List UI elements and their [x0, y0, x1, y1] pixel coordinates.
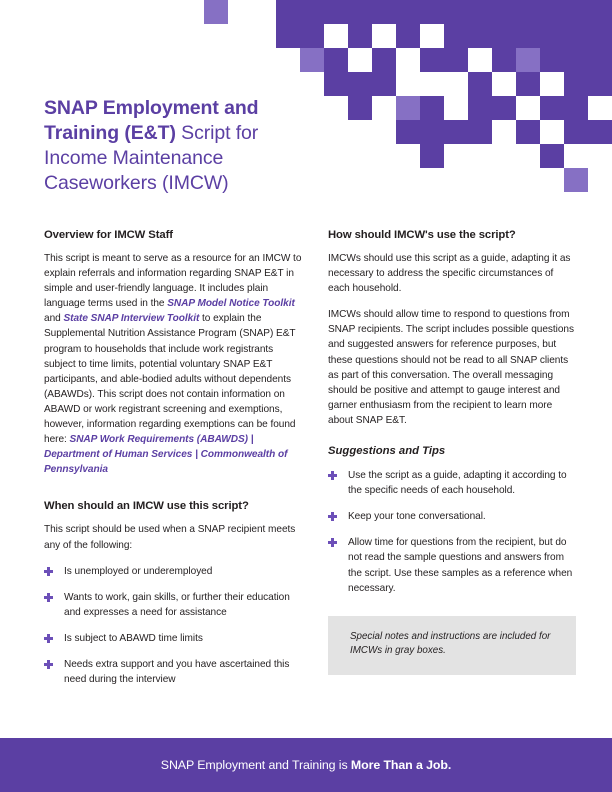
mosaic-cell-dark [420, 120, 444, 144]
mosaic-cell-dark [396, 24, 420, 48]
mosaic-cell-dark [540, 0, 564, 24]
special-note-text: Special notes and instructions are inclu… [350, 630, 558, 659]
overview-text-c: to explain the Supplemental Nutrition As… [44, 313, 295, 445]
list-item: Wants to work, gain skills, or further t… [44, 590, 302, 620]
mosaic-cell-dark [396, 0, 420, 24]
mosaic-cell-dark [564, 120, 588, 144]
list-item: Keep your tone conversational. [328, 509, 576, 524]
mosaic-cell-dark [564, 0, 588, 24]
mosaic-cell-dark [564, 72, 588, 96]
mosaic-cell-dark [420, 48, 444, 72]
mosaic-cell-light [300, 48, 324, 72]
list-item: Allow time for questions from the recipi… [328, 535, 576, 595]
footer-tagline-bold: More Than a Job. [351, 758, 451, 772]
mosaic-cell-dark [468, 24, 492, 48]
list-item-label: Wants to work, gain skills, or further t… [64, 592, 290, 618]
how-to-use-paragraph-2: IMCWs should allow time to respond to qu… [328, 307, 576, 428]
special-note-box: Special notes and instructions are inclu… [328, 616, 576, 675]
page-title: SNAP Employment and Training (E&T) Scrip… [44, 96, 314, 196]
plus-icon [328, 471, 337, 480]
when-to-use-list: Is unemployed or underemployed Wants to … [44, 564, 302, 688]
mosaic-cell-dark [468, 0, 492, 24]
mosaic-cell-dark [420, 96, 444, 120]
mosaic-cell-dark [540, 144, 564, 168]
list-item: Is subject to ABAWD time limits [44, 631, 302, 646]
mosaic-cell-dark [420, 144, 444, 168]
plus-icon [328, 512, 337, 521]
mosaic-cell-light [516, 48, 540, 72]
mosaic-cell-dark [444, 24, 468, 48]
header-banner: SNAP Employment and Training (E&T) Scrip… [0, 0, 612, 200]
mosaic-cell-dark [516, 120, 540, 144]
mosaic-cell-dark [348, 24, 372, 48]
mosaic-cell-light [204, 0, 228, 24]
list-item: Is unemployed or underemployed [44, 564, 302, 579]
suggestions-heading: Suggestions and Tips [328, 444, 576, 458]
link-state-snap-interview-toolkit[interactable]: State SNAP Interview Toolkit [63, 313, 199, 324]
mosaic-cell-dark [492, 48, 516, 72]
mosaic-cell-dark [588, 72, 612, 96]
mosaic-cell-dark [372, 48, 396, 72]
mosaic-cell-dark [348, 0, 372, 24]
when-to-use-heading: When should an IMCW use this script? [44, 499, 302, 513]
mosaic-cell-dark [564, 48, 588, 72]
mosaic-cell-dark [492, 24, 516, 48]
mosaic-cell-light [564, 168, 588, 192]
right-column: How should IMCW's use the script? IMCWs … [328, 228, 576, 675]
mosaic-cell-dark [516, 0, 540, 24]
mosaic-cell-dark [348, 72, 372, 96]
link-snap-model-notice-toolkit[interactable]: SNAP Model Notice Toolkit [167, 298, 295, 309]
mosaic-cell-dark [540, 24, 564, 48]
section-overview: Overview for IMCW Staff This script is m… [44, 228, 302, 477]
mosaic-cell-dark [468, 72, 492, 96]
how-to-use-paragraph-1: IMCWs should use this script as a guide,… [328, 251, 576, 296]
plus-icon [44, 660, 53, 669]
mosaic-cell-dark [324, 0, 348, 24]
mosaic-cell-dark [564, 96, 588, 120]
list-item-label: Use the script as a guide, adapting it a… [348, 470, 567, 496]
mosaic-cell-dark [468, 96, 492, 120]
mosaic-cell-dark [492, 96, 516, 120]
mosaic-cell-light [396, 96, 420, 120]
list-item-label: Is subject to ABAWD time limits [64, 633, 203, 644]
mosaic-cell-dark [324, 72, 348, 96]
mosaic-cell-dark [588, 120, 612, 144]
mosaic-cell-dark [300, 24, 324, 48]
list-item-label: Allow time for questions from the recipi… [348, 537, 572, 593]
footer-tagline-regular: SNAP Employment and Training is [161, 758, 351, 772]
mosaic-cell-dark [516, 24, 540, 48]
overview-paragraph: This script is meant to serve as a resou… [44, 251, 302, 477]
mosaic-cell-dark [324, 48, 348, 72]
mosaic-cell-dark [348, 96, 372, 120]
mosaic-cell-dark [300, 0, 324, 24]
link-snap-work-requirements[interactable]: SNAP Work Requirements (ABAWDS) | Depart… [44, 434, 287, 475]
plus-icon [44, 567, 53, 576]
footer-tagline: SNAP Employment and Training is More Tha… [161, 758, 451, 772]
mosaic-cell-dark [588, 0, 612, 24]
mosaic-cell-dark [540, 48, 564, 72]
section-how-to-use: How should IMCW's use the script? IMCWs … [328, 228, 576, 428]
mosaic-cell-dark [372, 0, 396, 24]
mosaic-cell-dark [276, 24, 300, 48]
mosaic-cell-dark [276, 0, 300, 24]
plus-icon [44, 634, 53, 643]
mosaic-cell-dark [396, 120, 420, 144]
mosaic-cell-dark [444, 0, 468, 24]
section-when-to-use: When should an IMCW use this script? Thi… [44, 499, 302, 687]
mosaic-cell-dark [420, 0, 444, 24]
section-suggestions-and-tips: Suggestions and Tips Use the script as a… [328, 444, 576, 596]
list-item: Needs extra support and you have ascerta… [44, 657, 302, 687]
mosaic-cell-dark [588, 24, 612, 48]
when-to-use-intro: This script should be used when a SNAP r… [44, 522, 302, 552]
list-item-label: Needs extra support and you have ascerta… [64, 659, 289, 685]
suggestions-list: Use the script as a guide, adapting it a… [328, 468, 576, 596]
plus-icon [328, 538, 337, 547]
mosaic-cell-dark [492, 0, 516, 24]
mosaic-cell-dark [372, 72, 396, 96]
footer-banner: SNAP Employment and Training is More Tha… [0, 738, 612, 792]
plus-icon [44, 593, 53, 602]
list-item-label: Is unemployed or underemployed [64, 566, 212, 577]
mosaic-cell-dark [540, 96, 564, 120]
list-item-label: Keep your tone conversational. [348, 511, 486, 522]
mosaic-cell-dark [564, 24, 588, 48]
mosaic-cell-dark [444, 120, 468, 144]
left-column: Overview for IMCW Staff This script is m… [44, 228, 302, 687]
how-to-use-heading: How should IMCW's use the script? [328, 228, 576, 242]
list-item: Use the script as a guide, adapting it a… [328, 468, 576, 498]
overview-heading: Overview for IMCW Staff [44, 228, 302, 242]
mosaic-cell-dark [588, 48, 612, 72]
overview-text-b: and [44, 313, 63, 324]
mosaic-cell-dark [516, 72, 540, 96]
mosaic-cell-dark [468, 120, 492, 144]
mosaic-cell-dark [444, 48, 468, 72]
